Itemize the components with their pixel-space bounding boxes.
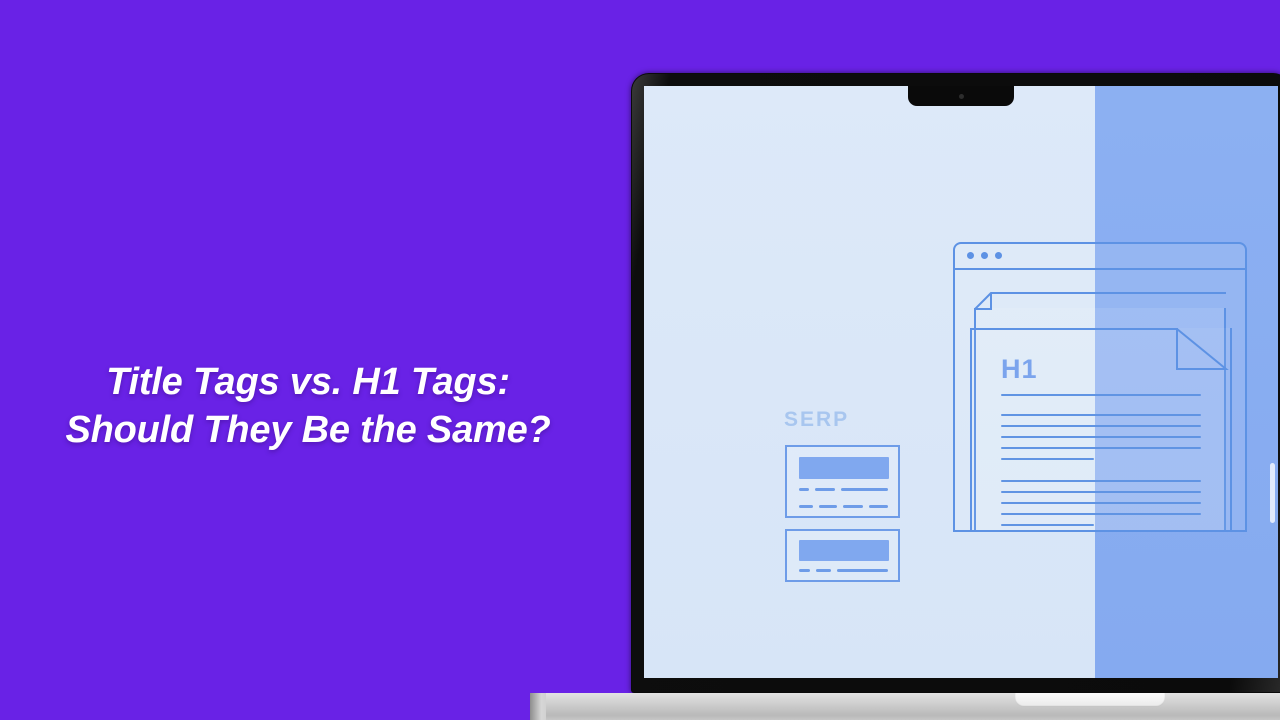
h1-heading-label: H1 [1001, 354, 1038, 385]
serp-result-snippet-dash [837, 569, 888, 572]
laptop-base [530, 693, 1280, 720]
doc-text-line [1001, 447, 1201, 449]
serp-result-snippet-dash [819, 505, 837, 508]
document-inner-fold-corner-icon [1176, 328, 1232, 384]
document-fold-corner-icon [974, 292, 992, 310]
serp-result-snippet-dash [799, 505, 813, 508]
window-minimize-dot-icon [981, 252, 988, 259]
browser-titlebar-divider [953, 268, 1247, 270]
page-title: Title Tags vs. H1 Tags: Should They Be t… [0, 358, 616, 454]
doc-text-line [1001, 513, 1201, 515]
doc-text-line [1001, 458, 1094, 460]
page-title-line-2: Should They Be the Same? [0, 406, 616, 454]
serp-result-title-bar [799, 540, 889, 561]
serp-result-card-2 [785, 529, 900, 582]
window-close-dot-icon [967, 252, 974, 259]
window-maximize-dot-icon [995, 252, 1002, 259]
slide-canvas: Title Tags vs. H1 Tags: Should They Be t… [0, 0, 1280, 720]
doc-text-line [1001, 414, 1201, 416]
serp-result-title-bar [799, 457, 889, 479]
serp-result-card-1 [785, 445, 900, 518]
serp-result-snippet-dash [799, 488, 809, 491]
laptop-base-notch [1015, 693, 1165, 707]
laptop-base-left-edge [530, 693, 546, 720]
document-inner: H1 [970, 328, 1232, 532]
laptop-camera-notch [908, 86, 1014, 106]
browser-window: H1 [953, 242, 1247, 532]
doc-text-line [1001, 524, 1094, 526]
serp-label: SERP [784, 408, 849, 432]
serp-result-snippet-dash [841, 488, 888, 491]
page-scrollbar[interactable] [1270, 463, 1275, 523]
serp-result-snippet-dash [815, 488, 835, 491]
camera-icon [959, 94, 964, 99]
doc-text-line [1001, 502, 1201, 504]
doc-text-line [1001, 480, 1201, 482]
document-outer-top-edge [991, 292, 1226, 294]
serp-result-snippet-dash [799, 569, 810, 572]
doc-text-line [1001, 425, 1201, 427]
doc-text-line [1001, 491, 1201, 493]
document-inner-top-edge [970, 328, 1178, 330]
serp-result-snippet-dash [869, 505, 888, 508]
doc-text-line [1001, 394, 1201, 396]
laptop-screen: SERP [644, 86, 1278, 678]
laptop-device: SERP [631, 73, 1280, 693]
serp-result-snippet-dash [843, 505, 863, 508]
serp-result-snippet-dash [816, 569, 831, 572]
doc-text-line [1001, 436, 1201, 438]
page-title-line-1: Title Tags vs. H1 Tags: [0, 358, 616, 406]
